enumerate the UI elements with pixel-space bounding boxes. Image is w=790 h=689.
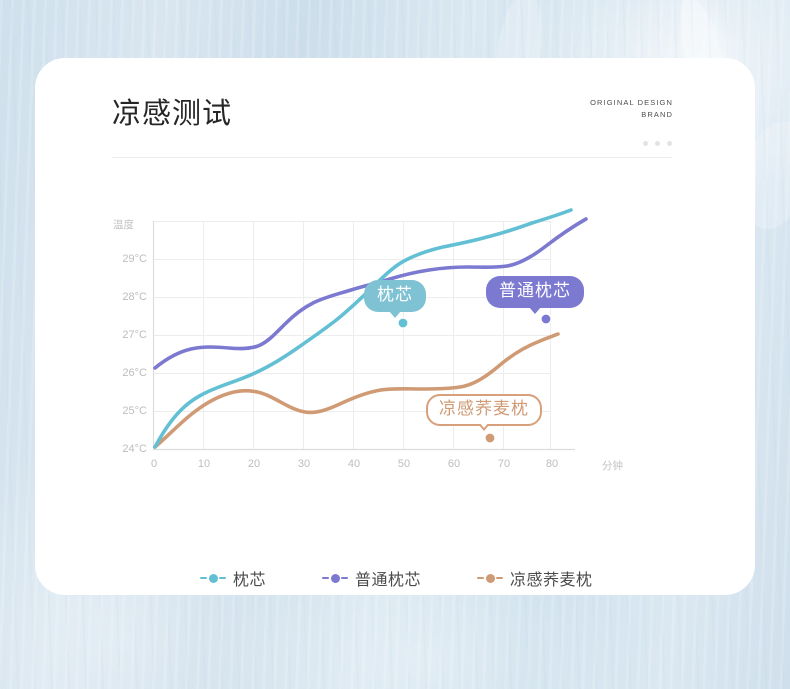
callout-tail-icon <box>478 424 490 431</box>
callout-label: 凉感荞麦枕 <box>439 399 529 419</box>
x-tick-label: 70 <box>490 458 518 470</box>
x-tick-label: 20 <box>240 458 268 470</box>
legend-label: 枕芯 <box>233 566 266 590</box>
chart-canvas <box>35 58 755 595</box>
y-tick-label: 25°C <box>103 405 147 417</box>
legend-item-ordinary-pillow[interactable]: 普通枕芯 <box>322 566 421 590</box>
x-tick-label: 60 <box>440 458 468 470</box>
legend-marker-icon <box>477 574 503 583</box>
legend-marker-icon <box>322 574 348 583</box>
chart-legend: 枕芯 普通枕芯 凉感荞麦枕 <box>200 566 593 590</box>
x-tick-label: 80 <box>538 458 566 470</box>
x-axis-title: 分钟 <box>602 458 623 473</box>
legend-label: 普通枕芯 <box>355 566 421 590</box>
content-card: 凉感测试 ORIGINAL DESIGN BRAND <box>35 58 755 595</box>
y-axis-title: 温度 <box>113 217 134 232</box>
callout-label: 普通枕芯 <box>499 281 571 301</box>
callout-tail-icon <box>529 307 541 314</box>
callout-ordinary-pillow: 普通枕芯 <box>486 276 584 308</box>
x-tick-label: 30 <box>290 458 318 470</box>
callout-cooling-buckwheat: 凉感荞麦枕 <box>426 394 542 426</box>
callout-tail-icon <box>389 311 401 318</box>
y-tick-label: 24°C <box>103 443 147 455</box>
legend-item-cooling-buckwheat[interactable]: 凉感荞麦枕 <box>477 566 593 590</box>
y-tick-label: 28°C <box>103 291 147 303</box>
cooling-test-chart: 温度 29°C 28°C 27°C 26°C 25°C 24°C 0 10 20… <box>35 58 755 595</box>
callout-pillow-core: 枕芯 <box>364 280 426 312</box>
y-tick-label: 27°C <box>103 329 147 341</box>
y-tick-label: 29°C <box>103 253 147 265</box>
y-tick-label: 26°C <box>103 367 147 379</box>
callout-label: 枕芯 <box>377 285 413 305</box>
x-tick-label: 40 <box>340 458 368 470</box>
x-tick-label: 10 <box>190 458 218 470</box>
data-point-marker-ordinary-pillow <box>541 314 551 324</box>
x-tick-label: 50 <box>390 458 418 470</box>
data-point-marker-pillow-core <box>398 318 408 328</box>
x-tick-label: 0 <box>140 458 168 470</box>
legend-marker-icon <box>200 574 226 583</box>
data-point-marker-cooling-buckwheat <box>485 433 495 443</box>
legend-item-pillow-core[interactable]: 枕芯 <box>200 566 266 590</box>
legend-label: 凉感荞麦枕 <box>510 566 593 590</box>
